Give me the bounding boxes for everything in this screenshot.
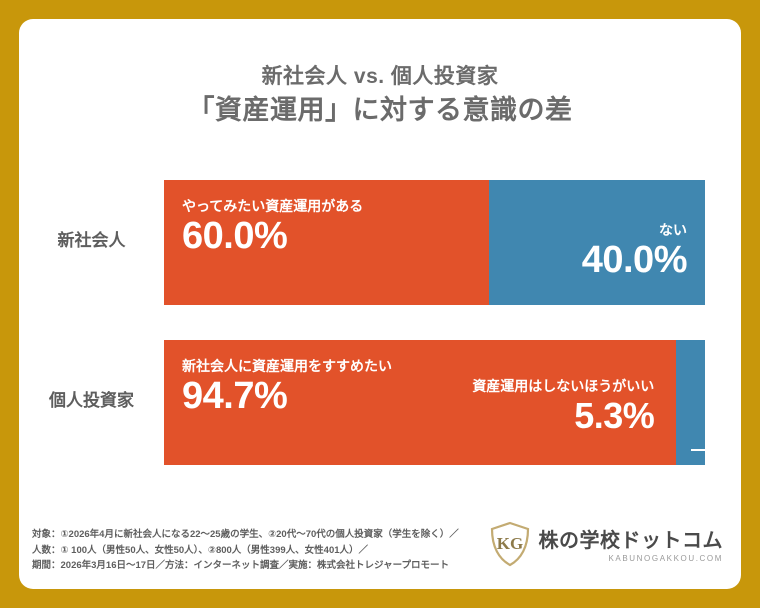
segment-value: 60.0% bbox=[182, 215, 471, 259]
category-label-new-employees: 新社会人 bbox=[19, 226, 164, 251]
leader-line-stroke bbox=[691, 449, 741, 451]
footnote-line-1: 対象：①2026年4月に新社会人になる22〜25歳の学生、②20代〜70代の個人… bbox=[32, 527, 502, 543]
survey-footnote: 対象：①2026年4月に新社会人になる22〜25歳の学生、②20代〜70代の個人… bbox=[32, 527, 502, 574]
logo-name: 株の学校ドットコム bbox=[539, 530, 724, 552]
segment-caption: 新社会人に資産運用をすすめたい bbox=[182, 358, 658, 375]
footnote-line-3: 期間：2026年3月16日〜17日／方法：インターネット調査／実施：株式会社トレ… bbox=[32, 558, 502, 574]
segment-caption: 資産運用はしないほうがいい bbox=[472, 378, 654, 395]
bar-segment-primary-new-employees[interactable]: やってみたい資産運用がある 60.0% bbox=[164, 180, 489, 305]
bar-segment-secondary-new-employees[interactable]: ない 40.0% bbox=[489, 180, 705, 305]
infographic-card: 新社会人 vs. 個人投資家 「資産運用」に対する意識の差 新社会人 やってみた… bbox=[19, 19, 741, 589]
footer: 対象：①2026年4月に新社会人になる22〜25歳の学生、②20代〜70代の個人… bbox=[19, 511, 741, 589]
svg-text:KG: KG bbox=[496, 534, 522, 553]
segment-caption: やってみたい資産運用がある bbox=[182, 198, 471, 215]
logo-text-block: 株の学校ドットコム KABUNOGAKKOU.COM bbox=[539, 531, 724, 563]
segment-value: 5.3% bbox=[472, 395, 654, 436]
logo-url: KABUNOGAKKOU.COM bbox=[539, 555, 724, 563]
bar-segment-primary-individual-investors[interactable]: 新社会人に資産運用をすすめたい 94.7% 資産運用はしないほうがいい 5.3% bbox=[164, 340, 676, 465]
stacked-bar-chart: 新社会人 やってみたい資産運用がある 60.0% ない 40.0% 個人 bbox=[19, 19, 741, 589]
footnote-line-2: 人数：① 100人（男性50人、女性50人）、②800人（男性399人、女性40… bbox=[32, 543, 502, 559]
bar-individual-investors: 新社会人に資産運用をすすめたい 94.7% 資産運用はしないほうがいい 5.3% bbox=[164, 340, 705, 465]
shield-icon: KG bbox=[489, 521, 531, 572]
segment-caption: ない bbox=[507, 222, 687, 239]
bar-new-employees: やってみたい資産運用がある 60.0% ない 40.0% bbox=[164, 180, 705, 305]
brand-logo[interactable]: KG 株の学校ドットコム KABUNOGAKKOU.COM bbox=[489, 521, 724, 572]
category-label-individual-investors: 個人投資家 bbox=[19, 386, 164, 411]
callout-leader-line bbox=[691, 445, 741, 455]
segment-value: 40.0% bbox=[507, 239, 687, 283]
callout-secondary-individual-investors: 資産運用はしないほうがいい 5.3% bbox=[472, 378, 654, 436]
